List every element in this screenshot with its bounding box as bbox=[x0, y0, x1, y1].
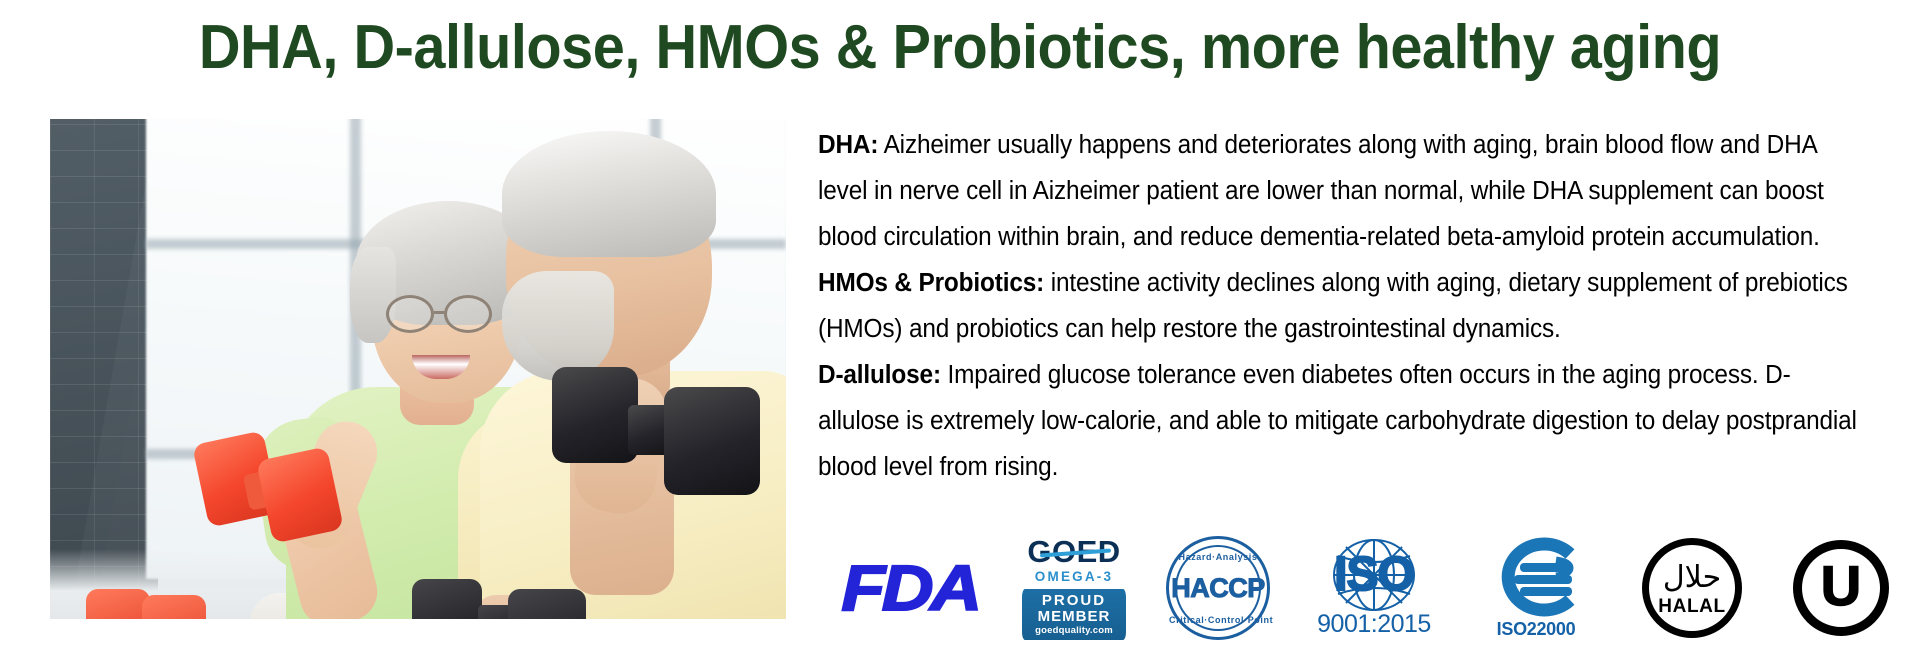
benefits-copy: DHA: Aizheimer usually happens and deter… bbox=[818, 122, 1859, 490]
goed-badge-line1: PROUD bbox=[1022, 593, 1126, 609]
goed-badge-line2: MEMBER bbox=[1022, 609, 1126, 625]
iso-standard-number: 9001:2015 bbox=[1317, 610, 1431, 639]
photo-black-dumbbell bbox=[552, 367, 638, 463]
haccp-top-text: Hazard·Analysis bbox=[1169, 552, 1267, 562]
ou-letter: U bbox=[1821, 558, 1861, 614]
goed-badge-url: goedquality.com bbox=[1022, 625, 1126, 637]
photo-brick-wall bbox=[50, 119, 158, 619]
iso-globe-icon: ISO bbox=[1314, 538, 1434, 612]
iso-22000-mark bbox=[1484, 536, 1588, 618]
halal-label: HALAL bbox=[1658, 596, 1725, 618]
paragraph-d-allulose-text: Impaired glucose tolerance even diabetes… bbox=[818, 361, 1857, 481]
goed-proud-member-badge: PROUD MEMBER goedquality.com bbox=[1022, 589, 1126, 640]
promo-banner: DHA, D-allulose, HMOs & Probiotics, more… bbox=[0, 0, 1920, 665]
certification-logo-strip: FDA GOED OMEGA-3 PROUD MEMBER goedqualit… bbox=[830, 533, 1900, 643]
fda-logo-icon: FDA bbox=[820, 536, 999, 640]
goed-omega3-label: OMEGA-3 bbox=[1035, 567, 1113, 587]
photo-woman-second-dumbbell bbox=[142, 595, 206, 619]
halal-circle: حلال HALAL bbox=[1642, 538, 1742, 638]
photo-woman-second-dumbbell bbox=[86, 589, 150, 619]
photo-black-dumbbell bbox=[664, 387, 760, 495]
paragraph-hmos-probiotics: HMOs & Probiotics: intestine activity de… bbox=[818, 260, 1859, 352]
halal-logo-icon: حلال HALAL bbox=[1632, 536, 1752, 640]
paragraph-dha-text: Aizheimer usually happens and deteriorat… bbox=[818, 131, 1824, 251]
iso-22000-label: ISO22000 bbox=[1497, 619, 1576, 640]
paragraph-hmos-probiotics-lead: HMOs & Probiotics: bbox=[818, 269, 1044, 297]
photo-man-beard bbox=[502, 271, 614, 381]
iso-9001-logo-icon: ISO 9001:2015 bbox=[1308, 536, 1440, 640]
hero-photo-elderly-couple-exercising bbox=[50, 119, 786, 619]
paragraph-d-allulose-lead: D-allulose: bbox=[818, 361, 941, 389]
photo-black-dumbbell bbox=[412, 579, 482, 619]
paragraph-dha: DHA: Aizheimer usually happens and deter… bbox=[818, 122, 1859, 260]
ou-circle: U bbox=[1793, 540, 1889, 636]
haccp-logo-icon: Hazard·Analysis HACCP Critical·Control·P… bbox=[1158, 536, 1278, 640]
halal-arabic-text: حلال bbox=[1663, 563, 1721, 593]
photo-man-hair bbox=[502, 131, 716, 257]
paragraph-d-allulose: D-allulose: Impaired glucose tolerance e… bbox=[818, 352, 1859, 490]
haccp-ring: Hazard·Analysis HACCP Critical·Control·P… bbox=[1166, 536, 1270, 640]
haccp-wordmark: HACCP bbox=[1171, 573, 1265, 604]
paragraph-dha-lead: DHA: bbox=[818, 131, 878, 159]
iso-22000-logo-icon: ISO22000 bbox=[1470, 536, 1602, 640]
goed-wordmark: GOED bbox=[1027, 536, 1120, 567]
photo-woman-hair bbox=[350, 247, 396, 343]
ou-kosher-logo-icon: U bbox=[1782, 536, 1900, 640]
haccp-bottom-text: Critical·Control·Point bbox=[1169, 615, 1267, 625]
page-title: DHA, D-allulose, HMOs & Probiotics, more… bbox=[67, 8, 1853, 87]
iso-wordmark: ISO bbox=[1334, 551, 1414, 599]
goed-omega3-proud-member-logo-icon: GOED OMEGA-3 PROUD MEMBER goedquality.co… bbox=[1020, 536, 1128, 640]
photo-woman-glasses bbox=[444, 295, 492, 333]
photo-black-dumbbell bbox=[508, 589, 586, 619]
photo-woman-glasses-bridge bbox=[434, 311, 446, 314]
photo-woman-glasses bbox=[386, 295, 434, 333]
